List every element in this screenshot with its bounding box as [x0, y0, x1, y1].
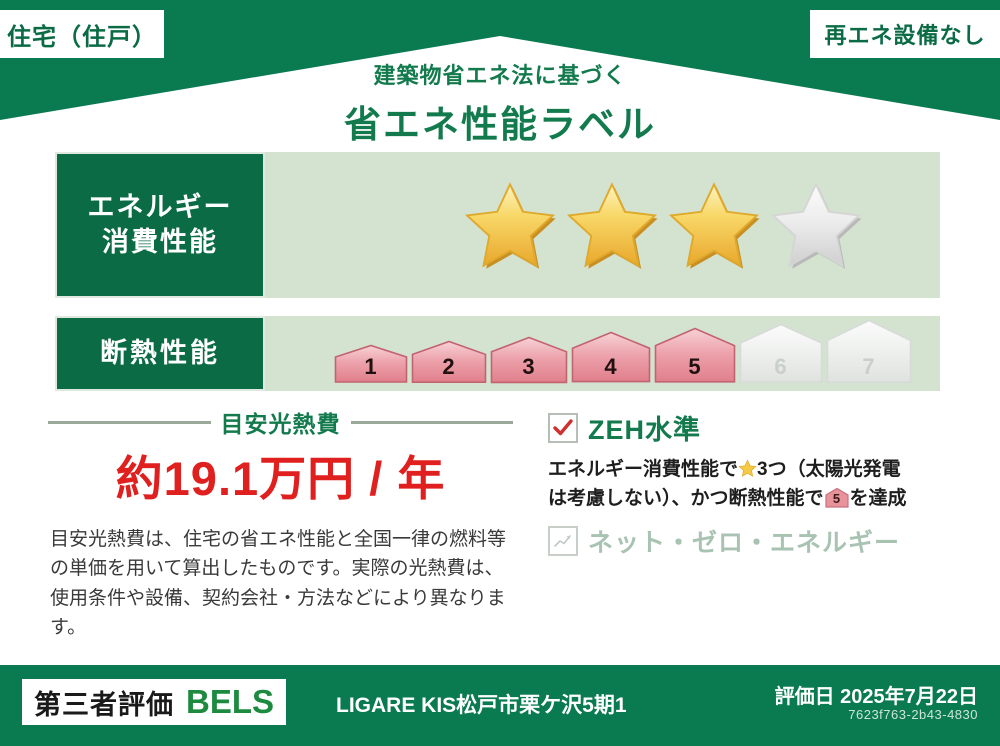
zeh-desc-starcount: 3つ（太陽光発電 — [757, 459, 901, 480]
insulation-performance-label-box: 断熱性能 — [55, 316, 265, 391]
energy-cost-heading-text: 目安光熱費 — [221, 405, 341, 439]
inline-house-level: 5 — [824, 489, 850, 509]
energy-cost-note: 目安光熱費は、住宅の省エネ性能と全国一律の燃料等の単価を用いて算出したものです。… — [50, 525, 520, 643]
insulation-level-house: 5 — [654, 327, 736, 384]
star-empty-icon — [770, 179, 862, 271]
insulation-level-house: 4 — [571, 331, 651, 384]
insulation-level-number: 5 — [654, 354, 736, 380]
star-filled-icon — [566, 179, 658, 271]
zeh-desc-part1: エネルギー消費性能で — [548, 459, 738, 480]
star-filled-icon — [668, 179, 760, 271]
net-zero-title: ネット・ゼロ・エネルギー — [588, 523, 900, 559]
tag-dwelling-label: 住宅（住戸） — [7, 17, 157, 52]
evaluation-id: 7623f763-2b43-4830 — [848, 707, 978, 722]
tag-renewable-label: 再エネ設備なし — [824, 18, 985, 50]
zeh-heading-row: ZEH水準 — [548, 408, 948, 447]
zeh-checkbox[interactable] — [548, 413, 578, 443]
insulation-level-house: 7 — [826, 319, 912, 384]
star-rating — [265, 152, 940, 298]
inline-star-icon — [738, 459, 757, 478]
net-zero-checkbox[interactable] — [548, 526, 578, 556]
energy-cost-amount: 約19.1万円 / 年 — [48, 440, 513, 509]
label-title-block: 建築物省エネ法に基づく 省エネ性能ラベル — [0, 58, 1000, 148]
rule-left — [48, 421, 211, 424]
insulation-level-scale: 1234567 — [265, 316, 940, 391]
insulation-level-number: 3 — [490, 354, 568, 380]
energy-label-line1: エネルギー — [88, 190, 233, 225]
evaluation-date: 評価日 2025年7月22日 — [775, 680, 978, 709]
tag-dwelling-type: 住宅（住戸） — [0, 10, 164, 58]
insulation-level-house: 2 — [411, 340, 487, 384]
bels-badge: 第三者評価 BELS — [22, 679, 286, 725]
energy-label-line2: 消費性能 — [102, 225, 218, 260]
insulation-level-number: 4 — [571, 354, 651, 380]
zeh-title: ZEH水準 — [588, 408, 701, 447]
net-zero-energy-row: ネット・ゼロ・エネルギー — [548, 523, 948, 559]
zeh-desc-part3: を達成 — [850, 488, 907, 509]
third-party-eval-label: 第三者評価 — [34, 683, 174, 722]
bels-logo-text: BELS — [186, 683, 274, 721]
check-icon — [552, 417, 574, 439]
energy-performance-label: 住宅（住戸） 再エネ設備なし 建築物省エネ法に基づく 省エネ性能ラベル エネルギ… — [0, 0, 1000, 746]
insulation-level-house: 3 — [490, 336, 568, 384]
energy-performance-body — [265, 152, 940, 298]
zeh-description: エネルギー消費性能で3つ（太陽光発電 は考慮しない）、かつ断熱性能で5を達成 — [548, 456, 948, 513]
insulation-label: 断熱性能 — [100, 336, 220, 371]
insulation-level-number: 2 — [411, 354, 487, 380]
footer-bar: 第三者評価 BELS LIGARE KIS松戸市栗ケ沢5期1 評価日 2025年… — [0, 665, 1000, 746]
tag-renewable-equipment: 再エネ設備なし — [810, 10, 1000, 58]
insulation-level-house: 1 — [334, 344, 408, 384]
inline-house-icon: 5 — [824, 487, 850, 509]
insulation-performance-body: 1234567 — [265, 316, 940, 391]
star-filled-icon — [464, 179, 556, 271]
insulation-level-number: 7 — [826, 354, 912, 380]
zeh-block: ZEH水準 エネルギー消費性能で3つ（太陽光発電 は考慮しない）、かつ断熱性能で… — [548, 408, 948, 559]
page-title: 省エネ性能ラベル — [0, 94, 1000, 148]
project-name: LIGARE KIS松戸市栗ケ沢5期1 — [336, 689, 627, 719]
energy-performance-label-box: エネルギー 消費性能 — [55, 152, 265, 298]
title-subtitle: 建築物省エネ法に基づく — [0, 58, 1000, 90]
insulation-level-number: 6 — [739, 354, 823, 380]
rule-right — [351, 421, 514, 424]
insulation-level-house: 6 — [739, 323, 823, 384]
insulation-level-number: 1 — [334, 354, 408, 380]
energy-cost-heading: 目安光熱費 — [48, 408, 513, 436]
trend-arrow-icon — [552, 530, 574, 552]
zeh-desc-part2: は考慮しない）、かつ断熱性能で — [548, 488, 824, 509]
